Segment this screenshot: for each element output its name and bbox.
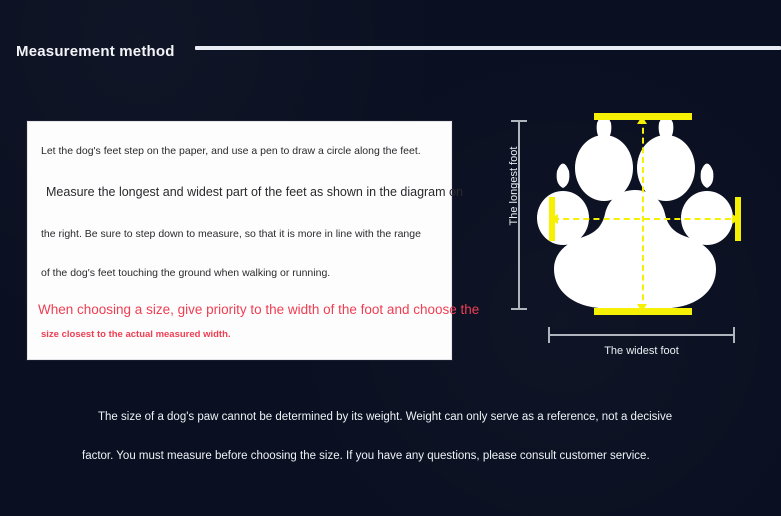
arrow-left-icon: [550, 214, 558, 224]
arrow-down-icon: [637, 304, 647, 312]
longest-foot-label: The longest foot: [508, 126, 520, 246]
arrow-up-icon: [637, 116, 647, 124]
instruction-line-4: of the dog's feet touching the ground wh…: [41, 268, 330, 279]
footer-note-line-2: factor. You must measure before choosing…: [82, 450, 650, 462]
page-title: Measurement method: [16, 43, 175, 60]
longest-foot-bracket-cap-bottom: [511, 308, 527, 310]
widest-foot-bracket-stem: [548, 334, 735, 336]
instruction-line-3: the right. Be sure to step down to measu…: [41, 229, 421, 240]
instruction-highlight-line-1: When choosing a size, give priority to t…: [38, 303, 479, 317]
instruction-highlight-line-2: size closest to the actual measured widt…: [41, 330, 231, 340]
widest-foot-bracket-cap-right: [733, 327, 735, 343]
horizontal-dashed-measure-line: [553, 218, 741, 220]
measurement-method-page: Measurement method Let the dog's feet st…: [0, 0, 781, 516]
widest-foot-bracket-cap-left: [548, 327, 550, 343]
arrow-right-icon: [732, 214, 740, 224]
widest-foot-label: The widest foot: [538, 345, 745, 357]
longest-foot-bracket-cap-top: [511, 120, 527, 122]
paw-measurement-diagram: The longest foot The widest foot: [480, 90, 770, 380]
instruction-line-1: Let the dog's feet step on the paper, an…: [41, 146, 421, 157]
footer-note-line-1: The size of a dog's paw cannot be determ…: [98, 411, 672, 423]
vertical-dashed-measure-line: [642, 118, 644, 310]
dog-paw-icon: [535, 105, 735, 320]
header-divider-rule: [195, 46, 781, 50]
instruction-line-2: Measure the longest and widest part of t…: [46, 186, 463, 199]
